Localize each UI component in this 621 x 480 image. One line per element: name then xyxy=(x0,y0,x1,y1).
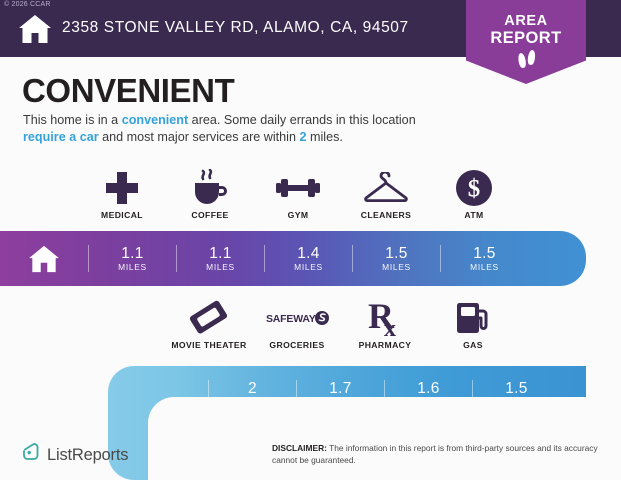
safeway-logo-icon: SAFEWAY xyxy=(253,296,341,340)
copyright-notice: © 2026 CCAR xyxy=(4,1,51,8)
amenity-gym: GYM xyxy=(254,166,342,220)
amenity-pharmacy: R x PHARMACY xyxy=(341,296,429,350)
listreports-house-icon xyxy=(22,443,41,467)
amenity-label: CLEANERS xyxy=(342,210,430,220)
distance-bar-row-1: 1.1 MILES 1.1 MILES 1.4 MILES 1.5 MILES … xyxy=(0,231,586,286)
amenity-groceries: SAFEWAY GROCERIES xyxy=(253,296,341,350)
intro-description: This home is in a convenient area. Some … xyxy=(23,112,443,145)
distance-segment: 1.1 MILES xyxy=(176,245,264,272)
intro-highlight-require-car: require a car xyxy=(23,130,99,144)
home-icon xyxy=(18,14,52,44)
distance-value: 1.1 xyxy=(89,245,176,262)
amenity-coffee: COFFEE xyxy=(166,166,254,220)
intro-text-1: This home is in a xyxy=(23,113,122,127)
disclaimer-label: DISCLAIMER: xyxy=(272,443,327,453)
home-marker xyxy=(0,245,88,273)
bar-right-gap xyxy=(586,286,621,366)
amenity-label: GYM xyxy=(254,210,342,220)
amenity-label: MOVIE THEATER xyxy=(165,340,253,350)
distance-segment: 1.4 MILES xyxy=(264,245,352,272)
badge-line-2: REPORT xyxy=(466,29,586,47)
amenity-icon-row-2: MOVIE THEATER SAFEWAY GROCERIES R x PHAR… xyxy=(165,296,517,350)
distance-value: 1.7 xyxy=(297,380,384,397)
distance-unit: MILES xyxy=(265,262,352,272)
listreports-logo: ListReports xyxy=(22,443,128,467)
clothes-hanger-icon xyxy=(342,166,430,210)
footprints-icon xyxy=(466,50,586,65)
intro-text-3: and most major services are within xyxy=(99,130,300,144)
distance-unit: MILES xyxy=(441,262,528,272)
distance-value: 1.5 xyxy=(441,245,528,262)
amenity-label: PHARMACY xyxy=(341,340,429,350)
movie-ticket-icon xyxy=(165,296,253,340)
distance-unit: MILES xyxy=(353,262,440,272)
distance-value: 1.4 xyxy=(265,245,352,262)
distance-segment: 1.5 MILES xyxy=(352,245,440,272)
intro-text-4: miles. xyxy=(307,130,343,144)
amenity-movie-theater: MOVIE THEATER xyxy=(165,296,253,350)
svg-text:x: x xyxy=(384,316,396,338)
amenity-atm: $ ATM xyxy=(430,166,518,220)
distance-value: 1.1 xyxy=(177,245,264,262)
distance-value: 1.5 xyxy=(353,245,440,262)
property-address: 2358 STONE VALLEY RD, ALAMO, CA, 94507 xyxy=(62,19,409,37)
svg-text:SAFEWAY: SAFEWAY xyxy=(266,313,316,325)
amenity-label: ATM xyxy=(430,210,518,220)
distance-value: 1.5 xyxy=(473,380,560,397)
bar-curve-notch xyxy=(148,397,586,480)
svg-text:$: $ xyxy=(468,176,481,203)
area-report-page: © 2026 CCAR 2358 STONE VALLEY RD, ALAMO,… xyxy=(0,0,621,480)
amenity-label: GAS xyxy=(429,340,517,350)
coffee-cup-icon xyxy=(166,166,254,210)
amenity-label: COFFEE xyxy=(166,210,254,220)
distance-value: 1.6 xyxy=(385,380,472,397)
gas-pump-icon xyxy=(429,296,517,340)
page-title: CONVENIENT xyxy=(22,72,234,110)
distance-segment: 1.5 MILES xyxy=(440,245,528,272)
distance-value: 2 xyxy=(209,380,296,397)
medical-cross-icon xyxy=(78,166,166,210)
dollar-circle-icon: $ xyxy=(430,166,518,210)
rx-prescription-icon: R x xyxy=(341,296,429,340)
intro-highlight-miles: 2 xyxy=(299,130,306,144)
amenity-cleaners: CLEANERS xyxy=(342,166,430,220)
amenity-gas: GAS xyxy=(429,296,517,350)
amenity-icon-row-1: MEDICAL COFFEE G xyxy=(78,166,518,220)
amenity-medical: MEDICAL xyxy=(78,166,166,220)
dumbbell-icon xyxy=(254,166,342,210)
distance-unit: MILES xyxy=(89,262,176,272)
distance-unit: MILES xyxy=(177,262,264,272)
intro-highlight-convenient: convenient xyxy=(122,113,188,127)
area-report-badge: AREA REPORT xyxy=(466,0,586,84)
disclaimer: DISCLAIMER: The information in this repo… xyxy=(272,443,602,466)
amenity-label: GROCERIES xyxy=(253,340,341,350)
listreports-wordmark: ListReports xyxy=(47,446,128,465)
distance-segment: 1.1 MILES xyxy=(88,245,176,272)
amenity-label: MEDICAL xyxy=(78,210,166,220)
badge-line-1: AREA xyxy=(466,14,586,29)
intro-text-2: area. Some daily errands in this locatio… xyxy=(188,113,416,127)
